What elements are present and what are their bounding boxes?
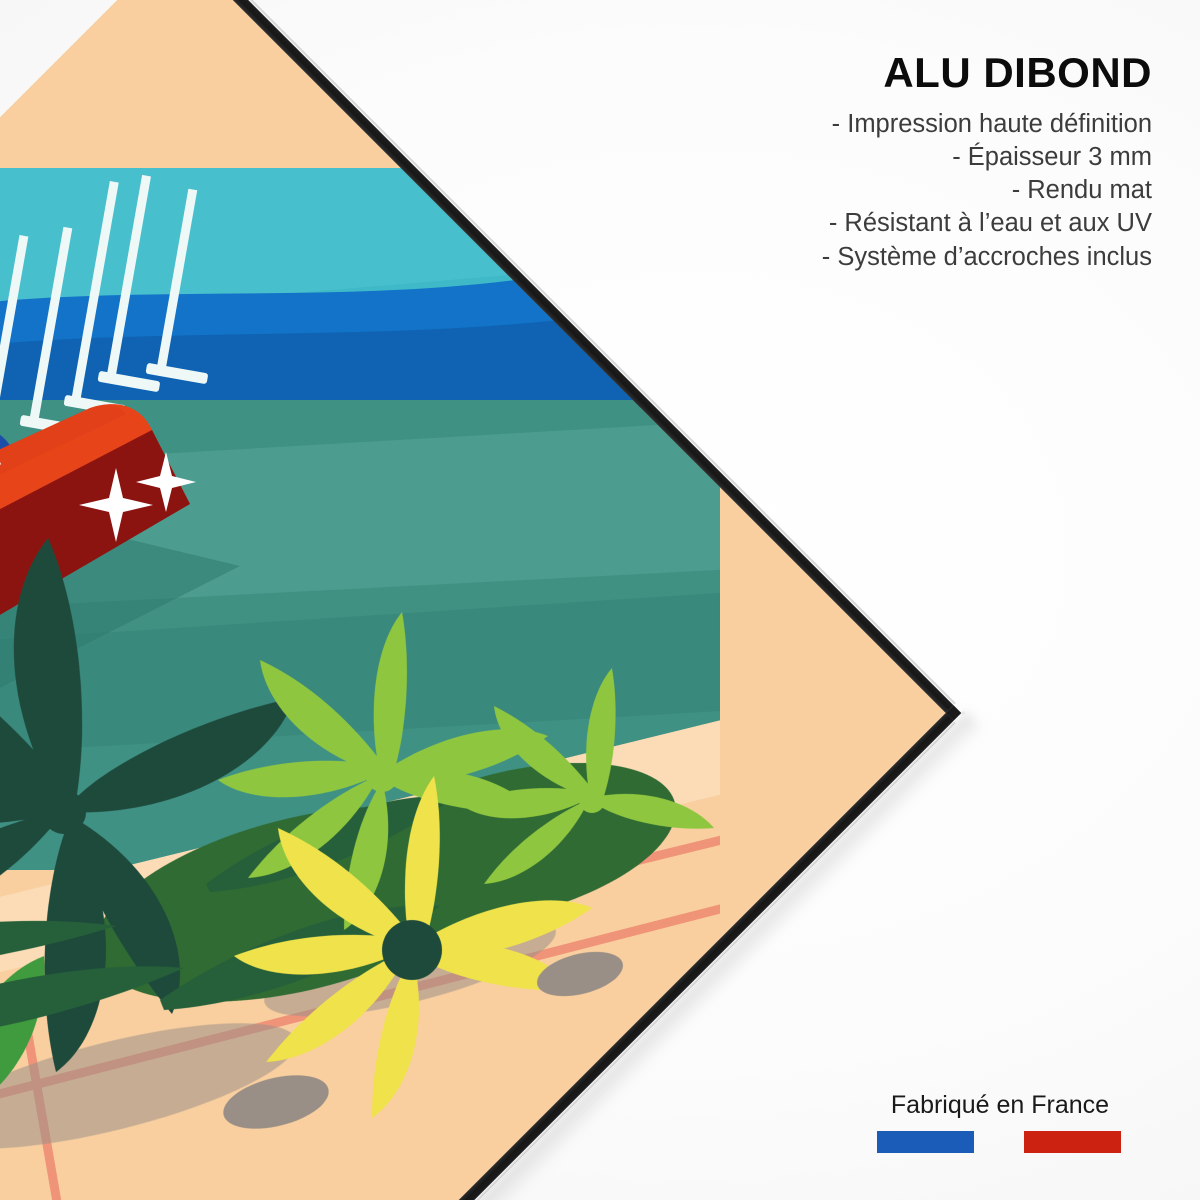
feature-list: - Impression haute définition - Épaisseu… <box>640 108 1156 274</box>
screenshot-canvas: ALU DIBOND - Impression haute définition… <box>0 0 1200 1200</box>
palm-crown <box>42 790 86 834</box>
product-info-block: ALU DIBOND - Impression haute définition… <box>640 52 1156 274</box>
french-flag-icon <box>852 1131 1148 1153</box>
feature-item: - Résistant à l’eau et aux UV <box>640 207 1156 240</box>
flag-red-bar <box>1024 1131 1121 1153</box>
feature-item: - Impression haute définition <box>640 108 1156 141</box>
feature-item: - Système d’accroches inclus <box>640 241 1156 274</box>
made-in-france-label: Fabriqué en France <box>852 1092 1148 1120</box>
page-title: ALU DIBOND <box>640 52 1156 94</box>
feature-item: - Épaisseur 3 mm <box>640 141 1156 174</box>
made-in-france-badge: Fabriqué en France <box>852 1092 1148 1153</box>
feature-item: - Rendu mat <box>640 174 1156 207</box>
yellow-star-core <box>382 920 442 980</box>
flag-blue-bar <box>877 1131 974 1153</box>
